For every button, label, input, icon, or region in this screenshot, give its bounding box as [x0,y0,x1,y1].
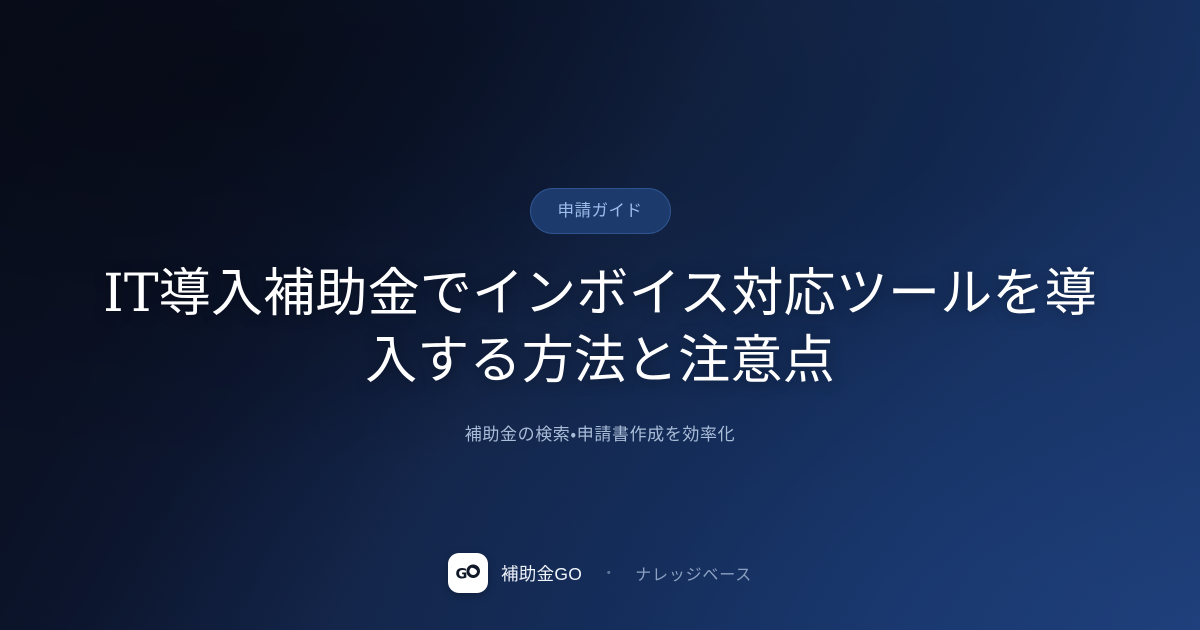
footer-separator-dot: ・ [601,566,616,581]
knowledge-base-label: ナレッジベース [635,561,752,585]
footer-brand-bar: G 補助金GO ・ ナレッジベース [0,553,1200,593]
category-badge: 申請ガイド [530,188,671,234]
brand-name-label: 補助金GO [501,561,582,586]
og-card: 申請ガイド IT導入補助金でインボイス対応ツールを導入する方法と注意点 補助金の… [0,0,1200,630]
svg-text:G: G [455,567,466,583]
page-title: IT導入補助金でインボイス対応ツールを導入する方法と注意点 [100,261,1100,394]
hojokin-go-logo-icon: G [448,553,488,593]
category-badge-label: 申請ガイド [558,203,643,220]
go-wordmark-icon: G [454,559,482,587]
page-subtitle: 補助金の検索・申請書作成を効率化 [465,420,735,445]
card-content: 申請ガイド IT導入補助金でインボイス対応ツールを導入する方法と注意点 補助金の… [0,0,1200,630]
